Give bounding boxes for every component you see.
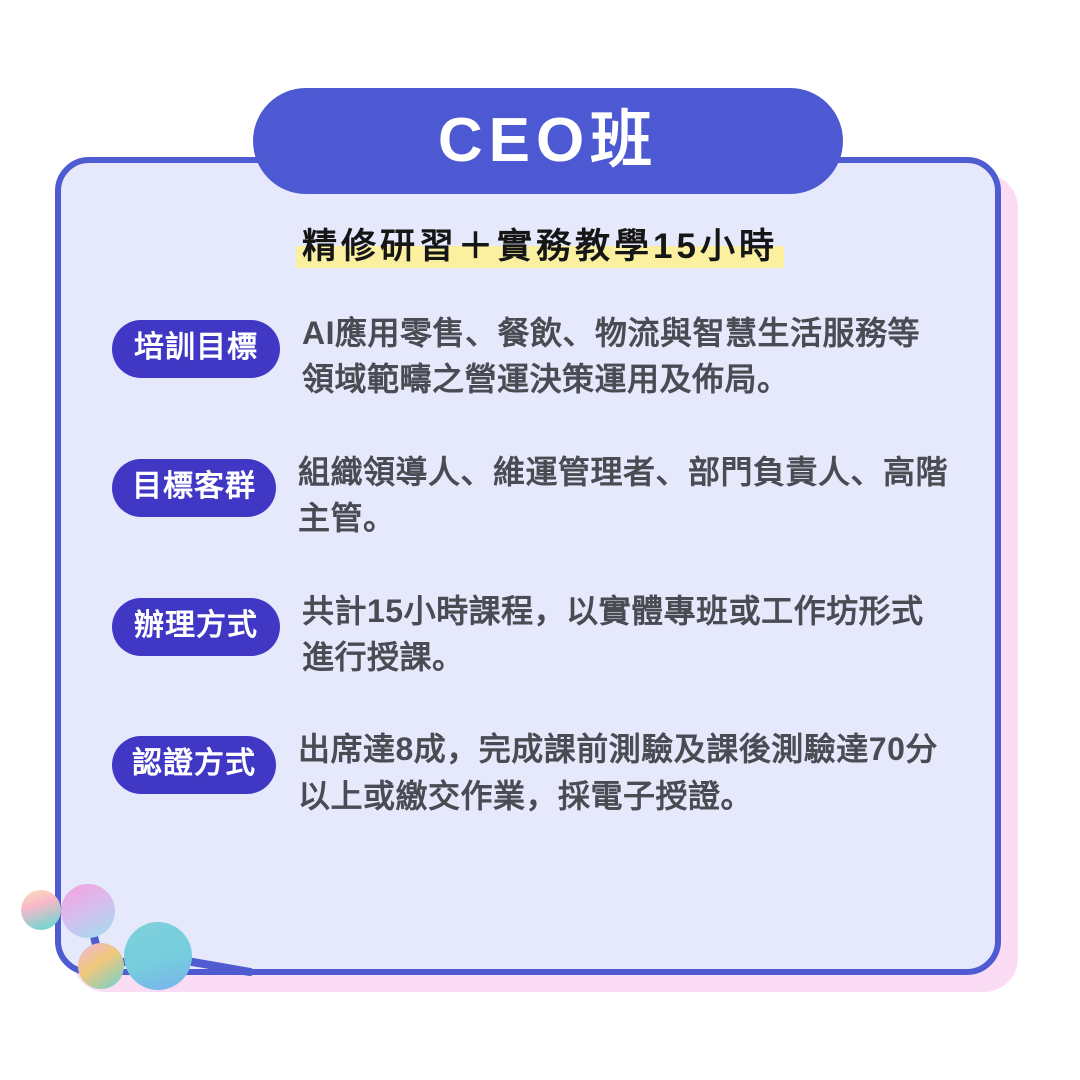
- rows-container: 培訓目標 AI應用零售、餐飲、物流與智慧生活服務等領域範疇之營運決策運用及佈局。…: [55, 310, 1001, 819]
- badge-certification-method: 認證方式: [112, 736, 276, 794]
- row-certification-method: 認證方式 出席達8成，完成課前測驗及課後測驗達70分以上或繳交作業，採電子授證。: [55, 726, 1001, 819]
- text-certification-method: 出席達8成，完成課前測驗及課後測驗達70分以上或繳交作業，採電子授證。: [298, 726, 948, 819]
- header-pill: CEO班: [253, 88, 843, 194]
- page-title: CEO班: [438, 110, 658, 172]
- row-training-goal: 培訓目標 AI應用零售、餐飲、物流與智慧生活服務等領域範疇之營運決策運用及佈局。: [55, 310, 1001, 403]
- badge-target-audience: 目標客群: [112, 459, 276, 517]
- badge-delivery-method: 辦理方式: [112, 598, 280, 656]
- subtitle: 精修研習＋實務教學15小時: [296, 226, 784, 268]
- text-training-goal: AI應用零售、餐飲、物流與智慧生活服務等領域範疇之營運決策運用及佈局。: [302, 310, 952, 403]
- row-target-audience: 目標客群 組織領導人、維運管理者、部門負責人、高階主管。: [55, 449, 1001, 542]
- text-target-audience: 組織領導人、維運管理者、部門負責人、高階主管。: [298, 449, 948, 542]
- text-delivery-method: 共計15小時課程，以實體專班或工作坊形式進行授課。: [302, 588, 952, 681]
- subtitle-container: 精修研習＋實務教學15小時: [0, 226, 1080, 268]
- infographic-canvas: CEO班 精修研習＋實務教學15小時 培訓目標 AI應用零售、餐飲、物流與智慧生…: [0, 0, 1080, 1080]
- row-delivery-method: 辦理方式 共計15小時課程，以實體專班或工作坊形式進行授課。: [55, 588, 1001, 681]
- badge-training-goal: 培訓目標: [112, 320, 280, 378]
- subtitle-text-fallback: 精修研習＋實務教學15小時: [302, 227, 778, 266]
